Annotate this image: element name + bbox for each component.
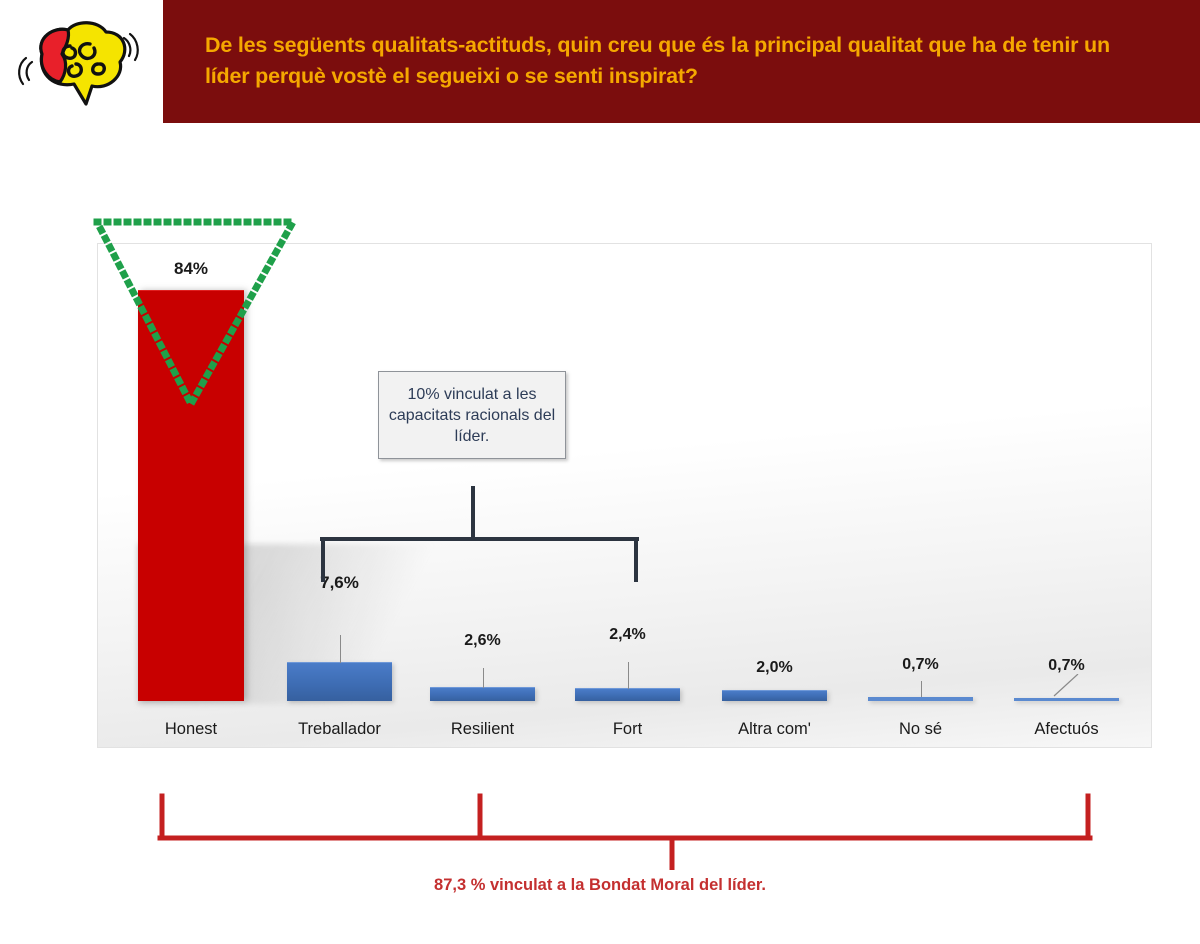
category-label-honest: Honest (165, 720, 217, 739)
moral-goodness-bracket (150, 785, 1100, 870)
category-label-altra-com: Altra com' (738, 720, 811, 739)
leader-line-afectuos (1050, 674, 1080, 698)
bar-value-honest: 84% (174, 259, 208, 279)
category-label-afectuos: Afectuós (1034, 720, 1098, 739)
category-label-fort: Fort (613, 720, 642, 739)
bar-slot-resilient[interactable]: 2,6% Resilient (430, 688, 535, 701)
bar-value-afectuos: 0,7% (1048, 657, 1084, 675)
bar-slot-no-se[interactable]: 0,7% No sé (868, 697, 973, 701)
callout-text: 10% vinculat a les capacitats racionals … (379, 384, 565, 447)
bar-slot-treballador[interactable]: 7,6% Treballador (287, 663, 392, 701)
bar-afectuos[interactable] (1014, 698, 1119, 701)
rational-capacities-callout: 10% vinculat a les capacitats racionals … (378, 371, 566, 459)
bar-fort[interactable] (575, 688, 680, 701)
bar-value-treballador: 7,6% (320, 573, 359, 593)
bar-resilient[interactable] (430, 687, 535, 701)
category-label-treballador: Treballador (298, 720, 381, 739)
bar-altra-com[interactable] (722, 690, 827, 701)
bar-slot-fort[interactable]: 2,4% Fort (575, 689, 680, 701)
bar-slot-afectuos[interactable]: 0,7% Afectuós (1014, 698, 1119, 701)
bar-value-no-se: 0,7% (902, 656, 938, 674)
chart-plot-area: 84% Honest 7,6% Treballador 2,6% Resilie… (97, 243, 1152, 748)
brain-speech-bubble-logo (12, 8, 140, 113)
header-banner: De les següents qualitats-actituds, quin… (163, 0, 1200, 123)
bar-slot-honest[interactable]: 84% Honest (138, 291, 244, 701)
moral-goodness-caption: 87,3 % vinculat a la Bondat Moral del lí… (0, 876, 1200, 895)
category-label-resilient: Resilient (451, 720, 514, 739)
leader-line-no-se (921, 681, 922, 697)
bar-value-altra-com: 2,0% (756, 659, 792, 677)
bar-no-se[interactable] (868, 697, 973, 701)
leader-line-resilient (483, 668, 484, 688)
bar-honest[interactable] (138, 290, 244, 701)
leader-line-fort (628, 662, 629, 689)
bar-treballador[interactable] (287, 662, 392, 701)
page-title: De les següents qualitats-actituds, quin… (205, 30, 1125, 92)
bar-value-fort: 2,4% (609, 626, 645, 644)
leader-line-treballador (340, 635, 341, 663)
bar-slot-altra-com[interactable]: 2,0% Altra com' (722, 691, 827, 701)
category-label-no-se: No sé (899, 720, 942, 739)
bar-value-resilient: 2,6% (464, 632, 500, 650)
